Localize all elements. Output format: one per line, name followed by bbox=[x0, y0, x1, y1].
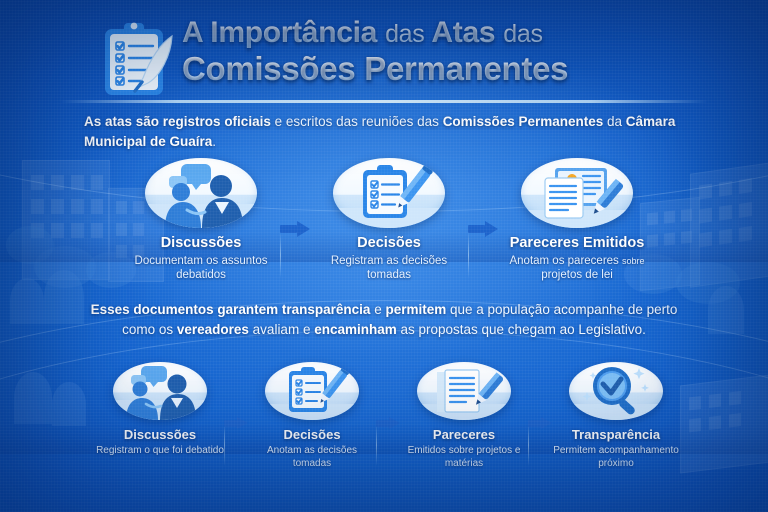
middle-text-3: avaliam e bbox=[249, 322, 314, 337]
middle-text-1: e bbox=[370, 302, 385, 317]
process-item-desc: Anotam os pareceres sobre projetos de le… bbox=[502, 254, 652, 283]
clipboard-checklist-quill-icon bbox=[98, 20, 176, 100]
middle-bold-3: vereadores bbox=[177, 322, 249, 337]
column-divider bbox=[528, 424, 529, 466]
background-person bbox=[14, 372, 52, 424]
document-pen-icon bbox=[417, 362, 511, 420]
summary-item-transparencia[interactable]: Transparência Permitem acompanhamento pr… bbox=[552, 362, 680, 470]
process-item-title: Discussões bbox=[161, 235, 242, 251]
title-strong-a: A Importância bbox=[182, 16, 377, 49]
title-strong-b: Atas bbox=[431, 16, 495, 49]
column-divider bbox=[468, 232, 469, 278]
middle-bold-4: encaminham bbox=[314, 322, 397, 337]
summary-item-title: Pareceres bbox=[433, 427, 495, 442]
desc-rest: projetos de lei bbox=[541, 269, 613, 281]
process-item-decisoes[interactable]: Decisões Registram as decisões tomadas bbox=[310, 158, 468, 283]
summary-item-desc: Registram o que foi debatido bbox=[96, 445, 224, 458]
magnifier-check-icon bbox=[569, 362, 663, 420]
column-divider bbox=[376, 424, 377, 466]
middle-text-4: as propostas que chegam ao Legislativo. bbox=[397, 322, 646, 337]
people-discussion-icon bbox=[113, 362, 207, 420]
background-person bbox=[708, 286, 744, 334]
page-title: A Importância das Atas das Comissões Per… bbox=[182, 18, 742, 85]
summary-item-title: Decisões bbox=[283, 427, 340, 442]
background-person bbox=[52, 382, 86, 426]
background-building-left bbox=[22, 160, 110, 280]
summary-item-title: Discussões bbox=[124, 427, 196, 442]
title-light-a: das bbox=[385, 20, 424, 48]
summary-item-desc: Anotam as decisões tomadas bbox=[248, 445, 376, 470]
header: A Importância das Atas das Comissões Per… bbox=[0, 0, 768, 103]
column-divider bbox=[280, 232, 281, 278]
background-tree bbox=[34, 246, 96, 288]
infographic-poster: A Importância das Atas das Comissões Per… bbox=[0, 0, 768, 512]
intro-text-3: . bbox=[212, 134, 216, 149]
intro-paragraph: As atas são registros oficiais e escrito… bbox=[84, 112, 684, 151]
intro-text-1: e escritos das reuniões das bbox=[271, 114, 443, 129]
header-divider bbox=[60, 100, 708, 103]
flow-arrow-icon bbox=[376, 417, 400, 430]
background-tree bbox=[6, 226, 54, 264]
process-item-desc: Documentam os assuntos debatidos bbox=[126, 254, 276, 283]
summary-item-pareceres[interactable]: Pareceres Emitidos sobre projetos e maté… bbox=[400, 362, 528, 470]
intro-text-2: da bbox=[603, 114, 626, 129]
flow-arrow-icon bbox=[224, 417, 248, 430]
process-item-pareceres-emitidos[interactable]: Pareceres Emitidos Anotam os pareceres s… bbox=[498, 158, 656, 283]
background-building-right bbox=[690, 162, 768, 288]
flow-arrow-icon bbox=[280, 221, 310, 237]
summary-item-desc: Permitem acompanhamento próximo bbox=[552, 445, 680, 470]
background-building-bottom-right bbox=[680, 374, 768, 473]
background-person bbox=[10, 278, 44, 324]
title-line-2: Comissões Permanentes bbox=[182, 52, 742, 85]
summary-item-decisoes[interactable]: Decisões Anotam as decisões tomadas bbox=[248, 362, 376, 470]
summary-item-discussoes[interactable]: Discussões Registram o que foi debatido bbox=[96, 362, 224, 458]
documents-pen-icon bbox=[521, 158, 633, 228]
middle-bold-1: Esses documentos garantem transparência bbox=[91, 302, 371, 317]
people-discussion-icon bbox=[145, 158, 257, 228]
process-item-title: Pareceres Emitidos bbox=[510, 235, 645, 251]
flow-arrow-icon bbox=[528, 417, 552, 430]
process-row-primary: Discussões Documentam os assuntos debati… bbox=[104, 158, 674, 283]
middle-bold-2: permitem bbox=[385, 302, 446, 317]
clipboard-checklist-pencil-icon bbox=[265, 362, 359, 420]
title-light-b: das bbox=[503, 20, 542, 48]
process-item-desc: Registram as decisões tomadas bbox=[314, 254, 464, 283]
desc-small: sobre bbox=[622, 256, 645, 266]
column-divider bbox=[224, 424, 225, 466]
summary-item-title: Transparência bbox=[572, 427, 660, 442]
process-row-secondary: Discussões Registram o que foi debatido bbox=[96, 362, 680, 470]
process-item-title: Decisões bbox=[357, 235, 421, 251]
process-item-discussoes[interactable]: Discussões Documentam os assuntos debati… bbox=[122, 158, 280, 283]
background-tree bbox=[676, 262, 740, 304]
intro-bold-2: Comissões Permanentes bbox=[443, 114, 604, 129]
intro-bold-1: As atas são registros oficiais bbox=[84, 114, 271, 129]
desc-main: Anotam os pareceres bbox=[509, 255, 622, 267]
middle-paragraph: Esses documentos garantem transparência … bbox=[84, 300, 684, 339]
summary-item-desc: Emitidos sobre projetos e matérias bbox=[400, 445, 528, 470]
background-person bbox=[44, 270, 84, 324]
clipboard-checklist-pencil-icon bbox=[333, 158, 445, 228]
flow-arrow-icon bbox=[468, 221, 498, 237]
